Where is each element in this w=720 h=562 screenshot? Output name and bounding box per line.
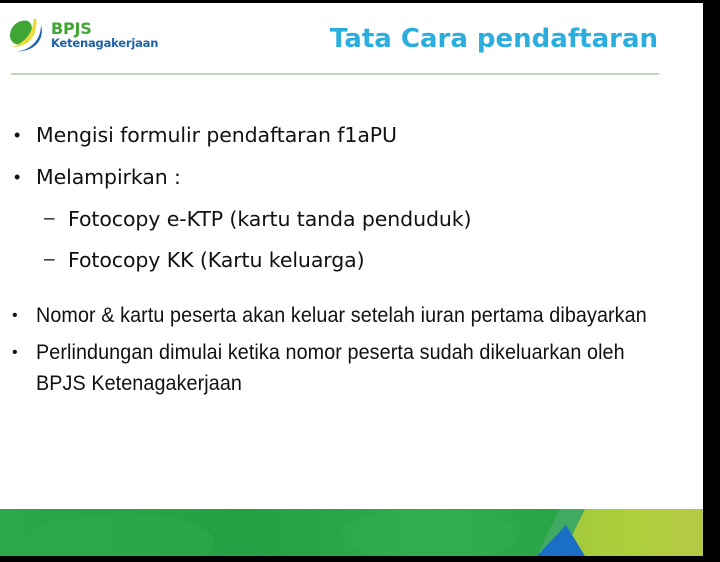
bpjs-leaf-logo-icon	[8, 18, 46, 52]
slide-title: Tata Cara pendaftaran	[330, 24, 658, 54]
bullet-marker: –	[44, 204, 68, 234]
logo-name-ketenagakerjaan: Ketenagakerjaan	[51, 38, 158, 50]
bpjs-logo-text: BPJS Ketenagakerjaan	[51, 21, 158, 50]
bullet-marker: •	[12, 300, 36, 331]
list-item: – Fotocopy KK (Kartu keluarga)	[0, 245, 690, 275]
logo-name-bpjs: BPJS	[51, 21, 158, 37]
frame-edge-right	[703, 0, 720, 562]
bullet-marker: •	[14, 120, 36, 150]
frame-edge-bottom	[0, 556, 720, 562]
list-item: • Nomor & kartu peserta akan keluar sete…	[0, 300, 690, 331]
bpjs-logo: BPJS Ketenagakerjaan	[8, 18, 158, 52]
bullet-text: Melampirkan :	[36, 162, 181, 192]
footer-band	[0, 509, 703, 556]
bullet-text: Perlindungan dimulai ketika nomor pesert…	[36, 337, 651, 399]
bullet-text: Fotocopy e-KTP (kartu tanda penduduk)	[68, 204, 471, 234]
list-item: • Perlindungan dimulai ketika nomor pese…	[0, 337, 690, 399]
spacer	[0, 286, 690, 300]
list-item: – Fotocopy e-KTP (kartu tanda penduduk)	[0, 204, 690, 234]
header-divider	[11, 73, 659, 75]
bullet-list: • Mengisi formulir pendaftaran f1aPU • M…	[0, 120, 690, 405]
list-item: • Mengisi formulir pendaftaran f1aPU	[0, 120, 690, 150]
bullet-text: Nomor & kartu peserta akan keluar setela…	[36, 300, 647, 331]
bullet-text: Fotocopy KK (Kartu keluarga)	[68, 245, 365, 275]
slide: BPJS Ketenagakerjaan Tata Cara pendaftar…	[0, 0, 720, 562]
bullet-marker: •	[12, 337, 36, 368]
bullet-marker: •	[14, 162, 36, 192]
bullet-marker: –	[44, 245, 68, 275]
frame-edge-top	[0, 0, 720, 3]
list-item: • Melampirkan :	[0, 162, 690, 192]
footer-graphic	[0, 509, 703, 556]
bullet-text: Mengisi formulir pendaftaran f1aPU	[36, 120, 397, 150]
slide-header: BPJS Ketenagakerjaan Tata Cara pendaftar…	[0, 0, 703, 78]
